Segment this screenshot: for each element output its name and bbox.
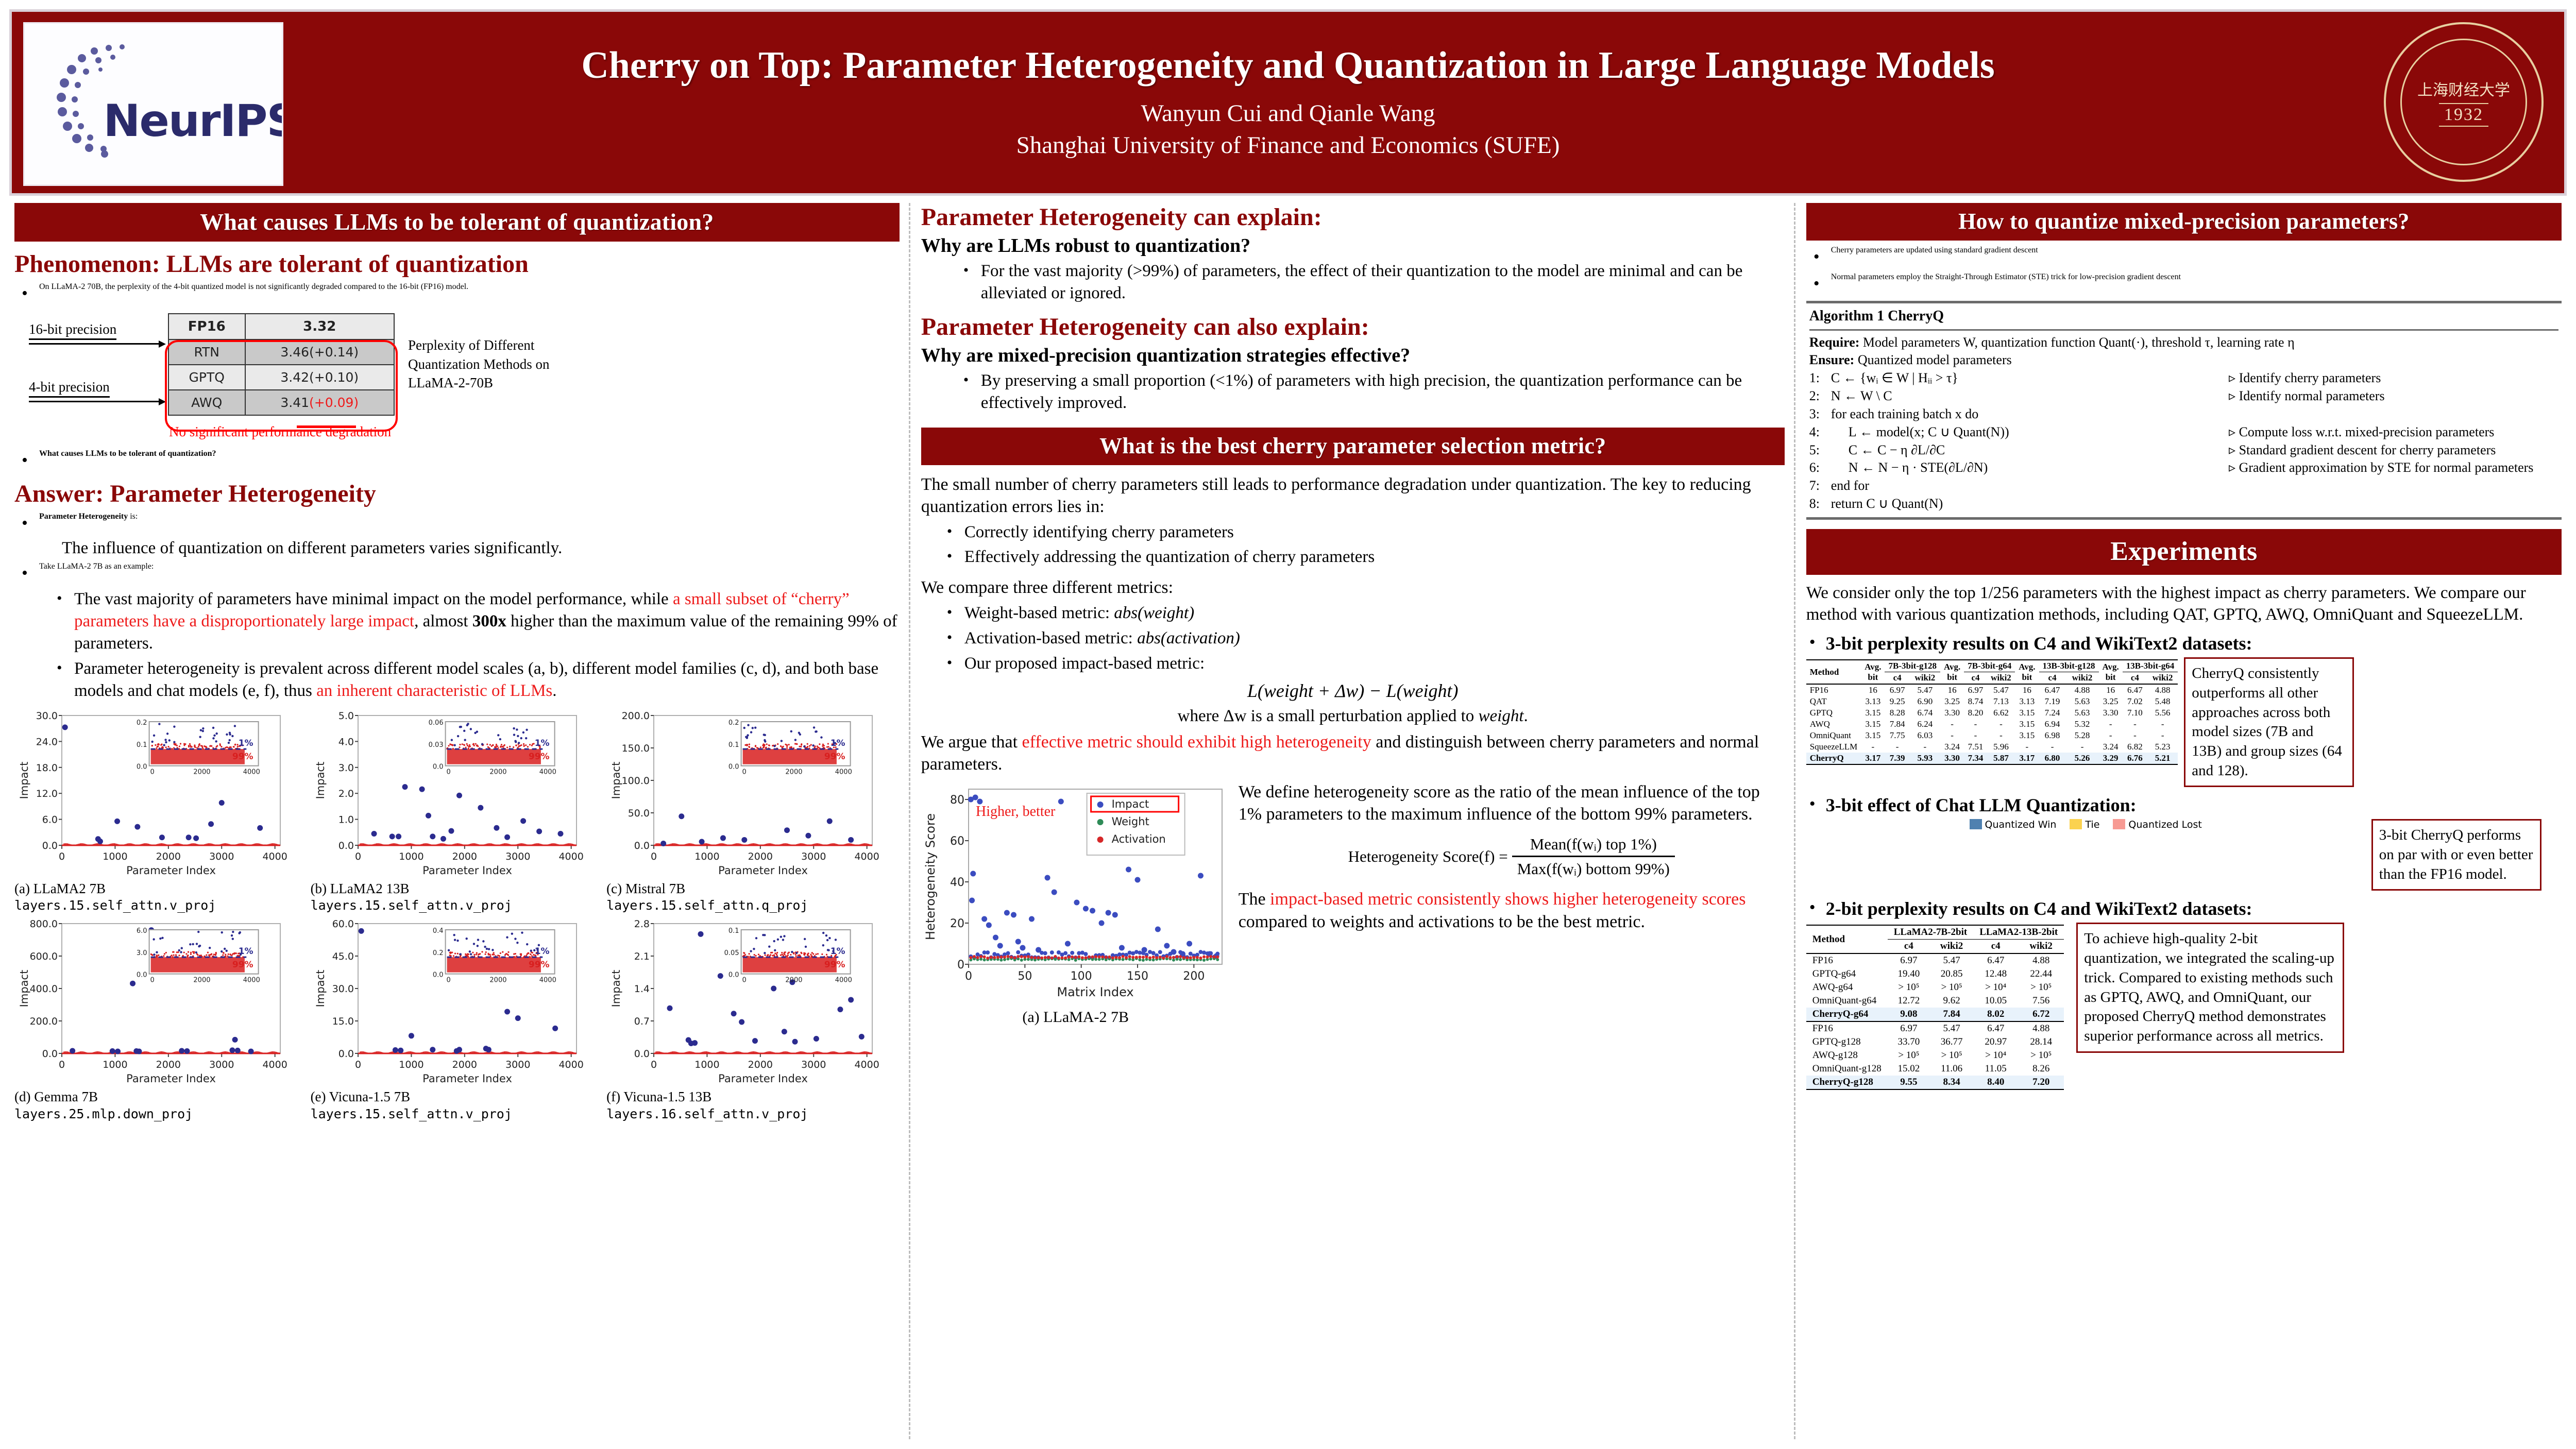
cell-method: CherryQ-g128 [1806,1076,1888,1089]
cell-value: 3.15 [1861,707,1885,719]
svg-text:2.0: 2.0 [338,788,353,799]
svg-text:0: 0 [651,1059,657,1070]
impact-figure-e: 60.045.030.015.00.001000200030004000Para… [311,916,604,1122]
chat-bar-chart: Quantized WinTieQuantized Lost [1806,819,2365,834]
figure-caption: (b) LLaMA2 13Blayers.15.self_attn.v_proj [311,880,604,914]
bullet-vast-majority-99: • For the vast majority (>99%) of parame… [963,260,1785,304]
bullet-marker: • [22,512,39,535]
bullet-marker: • [22,449,39,472]
cell-value: - [1910,741,1940,753]
svg-text:Impact: Impact [1111,798,1149,810]
svg-text:2.1: 2.1 [634,951,650,962]
exp-title-3bit-ppl: 3-bit perplexity results on C4 and WikiT… [1826,633,2252,654]
cell-value: 5.26 [2066,753,2099,764]
svg-text:3000: 3000 [505,851,530,862]
section-banner-experiments: Experiments [1806,529,2562,575]
svg-text:2000: 2000 [156,1059,181,1070]
bullet-marker: • [57,588,74,655]
algorithm-line: 6:N ← N − η · STE(∂L/∂N)▹ Gradient appro… [1809,459,2558,477]
svg-text:30.0: 30.0 [36,710,58,722]
bullet-marker: • [947,602,964,624]
cell-method: FP16 [1806,684,1861,696]
cell-value: 3.13 [1861,696,1885,707]
svg-text:50: 50 [1018,970,1032,983]
cell-value: 6.62 [1987,707,2015,719]
column-3: How to quantize mixed-precision paramete… [1801,203,2567,1439]
bullet-marker: • [947,546,964,568]
impact-scatter-svg: 200.0150.0100.050.00.001000200030004000P… [606,708,879,878]
svg-text:0: 0 [742,977,747,984]
cell-value: 7.39 [1885,753,1909,764]
cell-value: 9.62 [1930,994,1973,1008]
column-header: Method [1806,925,1888,953]
svg-text:4.0: 4.0 [338,736,353,747]
svg-text:45.0: 45.0 [332,951,353,962]
svg-text:3000: 3000 [209,851,234,862]
cell-value: 6.47 [1973,953,2018,967]
svg-text:0: 0 [59,1059,65,1070]
cell-value: 6.03 [1910,730,1940,741]
cell-value: 7.24 [2039,707,2066,719]
svg-text:1000: 1000 [694,851,719,862]
svg-text:0.2: 0.2 [728,719,739,727]
svg-text:0.0: 0.0 [42,840,58,851]
table-row: QAT3.139.256.903.258.747.133.137.195.633… [1806,696,2178,707]
bullet-heterogeneity-def: • Parameter Heterogeneity is: [22,512,900,535]
svg-text:Parameter Index: Parameter Index [718,1072,808,1085]
cell-method: CherryQ [1806,753,1861,764]
svg-text:1000: 1000 [399,851,423,862]
svg-text:6.0: 6.0 [137,927,147,935]
svg-text:4000: 4000 [855,851,879,862]
svg-text:4000: 4000 [558,1059,583,1070]
svg-text:0.0: 0.0 [728,971,739,979]
algorithm-line-comment: ▹ Standard gradient descent for cherry p… [2229,441,2558,459]
svg-text:Higher, better: Higher, better [976,804,1056,820]
svg-text:1000: 1000 [694,1059,719,1070]
cell-value: 5.63 [2066,707,2099,719]
column-header-sub: wiki2 [1910,672,1940,685]
cell-value: 7.20 [2018,1076,2064,1089]
svg-text:18.0: 18.0 [36,762,58,773]
cell-value: - [1861,741,1885,753]
impact-scatter-svg: 2.82.11.40.70.001000200030004000Paramete… [606,916,879,1086]
cell-value: - [2015,741,2039,753]
algorithm-line-number: 6: [1809,459,1831,477]
cell-value: 5.23 [2147,741,2178,753]
ensure-text: Quantized model parameters [1858,351,2012,369]
perplexity-table-box: FP163.32 RTN3.46(+0.14) GPTQ3.42(+0.10) … [168,313,395,416]
algorithm-line: 5:C ← C − η ∂L/∂C▹ Standard gradient des… [1809,441,2558,459]
svg-text:3.0: 3.0 [137,949,147,957]
legend-label: Quantized Lost [2128,819,2201,830]
label-4bit-precision: 4-bit precision [29,379,110,398]
cell-value: 15.02 [1888,1062,1930,1076]
svg-text:1%: 1% [239,738,253,748]
heterogeneity-scatter-svg: 020406080050100150200Matrix IndexHeterog… [921,781,1230,1002]
neurips-logo-text: NeurIPS [104,95,284,147]
text-part-b: . [552,681,556,700]
column-divider-2 [1794,203,1797,1439]
svg-text:0: 0 [446,977,450,984]
cell-value: 28.14 [2018,1035,2064,1049]
subbullet-prevalence: • Parameter heterogeneity is prevalent a… [57,658,900,702]
text-highlight-inherent: an inherent characteristic of LLMs [316,681,552,700]
exp-title-2bit-row: • 2-bit perplexity results on C4 and Wik… [1809,898,2562,919]
cell-value: 6.98 [2039,730,2066,741]
svg-text:0.06: 0.06 [428,719,443,727]
bullet-text: Effectively addressing the quantization … [964,546,1375,568]
table-row: OmniQuant3.157.756.03---3.156.985.28--- [1806,730,2178,741]
svg-text:Weight: Weight [1111,815,1149,828]
cell-value: 3.25 [2099,696,2123,707]
heading-explain-2: Parameter Heterogeneity can also explain… [921,313,1785,341]
cell-value: 11.06 [1930,1062,1973,1076]
column-header-avgbit: Avg.bit [1940,660,1964,684]
algorithm-line-number: 2: [1809,387,1831,405]
algorithm-line: 8:return C ∪ Quant(N) [1809,495,2558,513]
cell-value: > 10⁴ [1973,1049,2018,1062]
svg-text:50.0: 50.0 [628,808,650,819]
table-row: GPTQ3.42(+0.10) [168,365,394,390]
cell-value: 5.63 [2066,696,2099,707]
svg-text:4000: 4000 [835,768,852,776]
bullet-marker: • [963,260,981,304]
bullet-identify-cherry: • Correctly identifying cherry parameter… [947,521,1785,543]
conclusion-part-b: compared to weights and activations to b… [1239,912,1645,931]
bullet-marker: • [1814,246,1831,268]
bullet-marker: • [1814,272,1831,295]
table-row: OmniQuant-g6412.729.6210.057.56 [1806,994,2064,1008]
svg-text:0: 0 [651,851,657,862]
heading-phenomenon: Phenomenon: LLMs are tolerant of quantiz… [14,250,900,278]
table-3bit-perplexity: MethodAvg.bit7B-3bit-g128Avg.bit7B-3bit-… [1806,659,2178,766]
legend-item: Tie [2070,819,2099,830]
red-underline-marker [297,425,356,428]
svg-text:3000: 3000 [209,1059,234,1070]
svg-text:0.0: 0.0 [432,763,443,771]
cell-method: AWQ-g64 [1806,981,1888,994]
impact-scatter-svg: 60.045.030.015.00.001000200030004000Para… [311,916,584,1086]
cell-method: FP16 [168,314,245,339]
svg-text:99%: 99% [232,752,253,762]
svg-text:2000: 2000 [452,1059,477,1070]
impact-figure-b: 5.04.03.02.01.00.001000200030004000Param… [311,708,604,914]
cell-value: > 10⁵ [2018,1049,2064,1062]
cell-value: 6.97 [1888,953,1930,967]
column-1: What causes LLMs to be tolerant of quant… [9,203,905,1439]
impact-figure-grid: 30.024.018.012.06.00.001000200030004000P… [14,708,900,1122]
cell-method: CherryQ-g64 [1806,1008,1888,1021]
column-header-sub: c4 [1964,672,1987,685]
svg-text:80: 80 [950,794,964,807]
cell-method: AWQ-g128 [1806,1049,1888,1062]
cell-value: 4.88 [2147,684,2178,696]
cell-value: - [2147,730,2178,741]
cell-value: 5.93 [1910,753,1940,764]
legend-swatch [2113,819,2125,829]
exp-title-chat: 3-bit effect of Chat LLM Quantization: [1826,794,2137,816]
svg-text:24.0: 24.0 [36,736,58,747]
column-header-sub: wiki2 [2147,672,2178,685]
svg-text:0.0: 0.0 [338,1048,353,1060]
bullet-marker: • [1809,633,1826,654]
cell-value: 3.30 [1940,707,1964,719]
poster-root: NeurIPS Cherry on Top: Parameter Heterog… [0,0,2576,1449]
figure-caption: (d) Gemma 7Blayers.25.mlp.down_proj [14,1088,308,1122]
algorithm-line-comment [2229,495,2558,513]
cell-value: - [1885,741,1909,753]
algorithm-line-number: 3: [1809,405,1831,423]
impact-scatter-svg: 5.04.03.02.01.00.001000200030004000Param… [311,708,584,878]
cell-value: 5.48 [2147,696,2178,707]
column-header: Method [1806,660,1861,684]
term-parameter-heterogeneity: Parameter Heterogeneity [39,512,128,521]
cell-method: AWQ [1806,719,1861,730]
cell-value: 6.47 [2039,684,2066,696]
svg-text:0.7: 0.7 [634,1016,650,1027]
cell-value: 3.42(+0.10) [245,365,395,390]
svg-text:0: 0 [446,768,450,776]
bullet-text: By preserving a small proportion (<1%) o… [981,370,1785,414]
svg-text:2000: 2000 [193,977,210,984]
svg-text:0.1: 0.1 [137,741,147,748]
cell-method: GPTQ [168,365,245,390]
figure-layer-name: layers.15.self_attn.v_proj [14,898,216,913]
svg-text:2000: 2000 [748,851,773,862]
cell-value: 7.56 [2018,994,2064,1008]
svg-text:1%: 1% [831,738,845,748]
svg-text:2000: 2000 [489,768,506,776]
table-2bit-perplexity: MethodLLaMA2-7B-2bitLLaMA2-13B-2bitc4wik… [1806,925,2064,1092]
note-chat: 3-bit CherryQ performs on par with or ev… [2371,819,2541,891]
note-weight-italic: weight [1479,707,1524,725]
heading-explain-1: Parameter Heterogeneity can explain: [921,203,1785,231]
algorithm-line-body: end for [1831,477,2229,495]
cell-value: 3.25 [1940,696,1964,707]
column-header-sub: c4 [2039,672,2066,685]
affiliation: Shanghai University of Finance and Econo… [464,131,2112,159]
svg-text:0.1: 0.1 [728,741,739,748]
chat-chart-legend: Quantized WinTieQuantized Lost [1806,819,2365,830]
bullet-marker: • [22,562,39,585]
bullet-text: Take LLaMA-2 7B as an example: [39,562,154,585]
cell-value: 6.72 [2018,1008,2064,1021]
svg-text:Impact: Impact [610,970,622,1008]
svg-text:Parameter Index: Parameter Index [126,864,216,877]
algorithm-ensure: Ensure: Quantized model parameters [1809,351,2558,369]
cell-value: 4.88 [2018,953,2064,967]
svg-text:0.0: 0.0 [338,840,353,851]
svg-text:40: 40 [950,876,964,889]
svg-text:0: 0 [965,970,972,983]
bullet-text: On LLaMA-2 70B, the perplexity of the 4-… [39,282,468,305]
cell-value: 6.47 [2123,684,2147,696]
cell-method: OmniQuant-g128 [1806,1062,1888,1076]
cell-value: 16 [1861,684,1885,696]
exp2-row: Quantized WinTieQuantized Lost 3-bit Che… [1806,819,2562,891]
algorithm-line-number: 7: [1809,477,1831,495]
cell-value: 3.30 [1940,753,1964,764]
svg-text:1000: 1000 [103,1059,127,1070]
column-header-sub: wiki2 [1987,672,2015,685]
svg-text:15.0: 15.0 [332,1016,353,1027]
svg-text:100: 100 [1070,970,1092,983]
bullet-marker: • [22,282,39,305]
section-banner-tolerance: What causes LLMs to be tolerant of quant… [14,203,900,242]
svg-text:0: 0 [59,851,65,862]
metric-label: Weight-based metric: [964,604,1114,622]
table-2bit-wrapper: MethodLLaMA2-7B-2bitLLaMA2-13B-2bitc4wik… [1806,923,2064,1092]
svg-text:3000: 3000 [505,1059,530,1070]
cell-value: 3.15 [2015,730,2039,741]
svg-text:1%: 1% [534,946,549,957]
algorithm-require: Require: Model parameters W, quantizatio… [1809,334,2558,352]
figure-layer-name: layers.16.self_attn.v_proj [606,1106,808,1121]
no-degradation-note: No significant performance degradation [169,424,900,440]
cell-value: > 10⁴ [1973,981,2018,994]
svg-text:60: 60 [950,835,964,848]
formula-lhs: Heterogeneity Score(f) = [1348,846,1508,867]
column-header-sub: wiki2 [2018,940,2064,954]
column-header-group: 7B-3bit-g64 [1964,660,2015,672]
cell-value: 7.84 [1930,1008,1973,1021]
algorithm-title: Algorithm 1 CherryQ [1809,305,2558,328]
svg-text:2000: 2000 [193,768,210,776]
bullet-marker: • [1809,794,1826,816]
table-row: SqueezeLLM---3.247.515.96---3.246.825.23 [1806,741,2178,753]
table-row: AWQ-g64> 10⁵> 10⁵> 10⁴> 10⁵ [1806,981,2064,994]
svg-text:99%: 99% [824,752,845,762]
cell-value: 6.94 [2039,719,2066,730]
svg-text:1%: 1% [239,946,253,957]
cell-value: > 10⁵ [1888,981,1930,994]
cell-value: 6.97 [1885,684,1909,696]
cell-method: QAT [1806,696,1861,707]
exp1-row: MethodAvg.bit7B-3bit-g128Avg.bit7B-3bit-… [1806,657,2562,787]
table-row: AWQ3.157.846.24---3.156.945.32--- [1806,719,2178,730]
cell-value: - [2147,719,2178,730]
subheading-robust: Why are LLMs robust to quantization? [921,234,1785,257]
cell-value: 8.20 [1964,707,1987,719]
cell-value: 12.48 [1973,967,2018,981]
bullet-text: Normal parameters employ the Straight-Th… [1831,272,2181,295]
require-text: Model parameters W, quantization functio… [1863,334,2295,352]
cell-value: - [2123,719,2147,730]
svg-text:1.0: 1.0 [338,814,353,825]
bullet-marker: • [57,658,74,702]
algorithm-line-body: L ← model(x; C ∪ Quant(N)) [1831,423,2229,441]
cell-method: GPTQ [1806,707,1861,719]
svg-text:150: 150 [1127,970,1148,983]
svg-text:4000: 4000 [855,1059,879,1070]
cell-value: 8.02 [1973,1008,2018,1021]
bullet-marker: • [947,653,964,675]
cell-value: 6.97 [1888,1021,1930,1035]
algorithm-line-body: C ← C − η ∂L/∂C [1831,441,2229,459]
cell-value: 8.28 [1885,707,1909,719]
algorithm-line: 2:N ← W \ C▹ Identify normal parameters [1809,387,2558,405]
metric-expression: abs(weight) [1114,604,1194,622]
column-header-sub: wiki2 [2066,672,2099,685]
figure-caption: (f) Vicuna-1.5 13Blayers.16.self_attn.v_… [606,1088,900,1122]
figure-layer-name: layers.15.self_attn.v_proj [311,1106,512,1121]
cell-value: - [1940,730,1964,741]
cell-value: 5.32 [2066,719,2099,730]
svg-text:0: 0 [742,768,747,776]
algorithm-line-comment: ▹ Compute loss w.r.t. mixed-precision pa… [2229,423,2558,441]
table-row: GPTQ-g12833.7036.7720.9728.14 [1806,1035,2064,1049]
algorithm-line-body: N ← N − η · STE(∂L/∂N) [1831,459,2229,477]
impact-figure-f: 2.82.11.40.70.001000200030004000Paramete… [606,916,900,1122]
svg-text:800.0: 800.0 [30,918,58,930]
metric-label: Our proposed impact-based metric: [964,653,1205,675]
text-part-b: , almost [414,612,472,630]
table-row: AWQ-g128> 10⁵> 10⁵> 10⁴> 10⁵ [1806,1049,2064,1062]
heterogeneity-section: 020406080050100150200Matrix IndexHeterog… [921,781,1785,1027]
paragraph-conclusion: The impact-based metric consistently sho… [1239,888,1785,933]
svg-text:1000: 1000 [399,1059,423,1070]
cell-value: 7.84 [1885,719,1909,730]
precision-annotations: 16-bit precision 4-bit precision [29,321,168,407]
cell-value: 7.34 [1964,753,1987,764]
algorithm-steps: 1:C ← {wᵢ ∈ W | Hᵢᵢ > τ}▹ Identify cherr… [1809,369,2558,513]
svg-text:Parameter Index: Parameter Index [126,1072,216,1085]
cell-value: 36.77 [1930,1035,1973,1049]
argue-highlight: effective metric should exhibit high het… [1022,732,1371,752]
cell-value: 3.24 [2099,741,2123,753]
cell-value: 6.82 [2123,741,2147,753]
bullet-text: Cherry parameters are updated using stan… [1831,246,2038,268]
svg-text:0.4: 0.4 [432,927,443,935]
cell-value: 3.15 [2015,719,2039,730]
formula-numerator: Mean(f(wᵢ) top 1%) [1512,833,1675,857]
svg-text:99%: 99% [824,960,845,970]
section-banner-metric: What is the best cherry parameter select… [921,428,1785,465]
legend-swatch [2070,819,2082,829]
svg-text:20: 20 [950,917,964,930]
algorithm-line-body: C ← {wᵢ ∈ W | Hᵢᵢ > τ} [1831,369,2229,387]
svg-text:200.0: 200.0 [30,1016,58,1027]
svg-text:5.0: 5.0 [338,710,353,722]
author-list: Wanyun Cui and Qianle Wang [464,99,2112,127]
svg-text:Parameter Index: Parameter Index [718,864,808,877]
cell-value: 12.72 [1888,994,1930,1008]
column-header-group: LLaMA2-7B-2bit [1888,925,1974,940]
heterogeneity-definition-text: We define heterogeneity score as the rat… [1239,781,1785,826]
text-300x: 300x [472,612,506,630]
cell-value: 3.32 [245,314,395,339]
table-row: OmniQuant-g12815.0211.0611.058.26 [1806,1062,2064,1076]
table-row: AWQ3.41(+0.09) [168,390,394,415]
cell-value: 3.15 [1861,719,1885,730]
cell-method: GPTQ-g128 [1806,1035,1888,1049]
svg-text:2000: 2000 [156,851,181,862]
svg-text:0: 0 [150,977,154,984]
bullet-cherry-gd: • Cherry parameters are updated using st… [1814,246,2562,268]
cell-value: 7.10 [2123,707,2147,719]
perplexity-table: FP163.32 RTN3.46(+0.14) GPTQ3.42(+0.10) … [168,313,395,416]
cell-value: 5.56 [2147,707,2178,719]
column-header-group: 13B-3bit-g64 [2123,660,2178,672]
svg-text:Impact: Impact [610,761,622,799]
svg-text:Heterogeneity Score: Heterogeneity Score [923,813,938,940]
svg-text:200: 200 [1183,970,1205,983]
svg-text:2000: 2000 [489,977,506,984]
algorithm-line: 3:for each training batch x do [1809,405,2558,423]
column-header-group: LLaMA2-13B-2bit [1973,925,2064,940]
svg-text:3000: 3000 [801,1059,826,1070]
